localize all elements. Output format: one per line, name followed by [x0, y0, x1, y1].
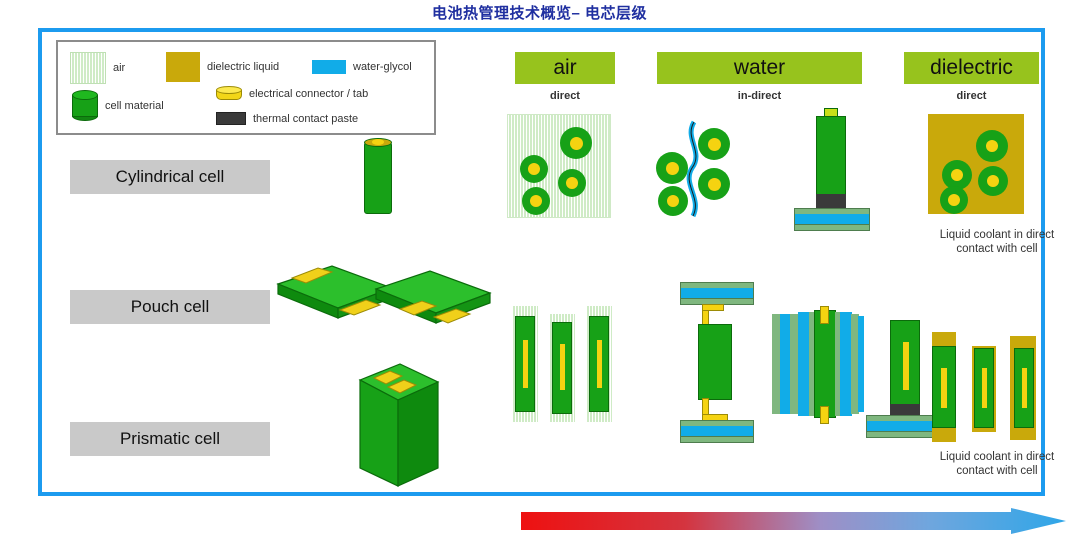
column-header-dielectric-label: dielectric — [930, 56, 1013, 80]
dielectric-cylindrical-diagram — [928, 114, 1024, 214]
legend-label-electrical-connector: electrical connector / tab — [249, 88, 368, 100]
diagram-frame: air dielectric liquid water-glycol cell … — [38, 28, 1045, 496]
note-dielectric-prismatic: Liquid coolant in direct contact with ce… — [902, 450, 1079, 478]
legend-item-cell-material: cell material — [72, 90, 164, 121]
cell-ring — [976, 130, 1008, 162]
legend-item-dielectric-liquid: dielectric liquid — [166, 52, 279, 82]
legend-label-thermal-paste: thermal contact paste — [253, 113, 358, 125]
legend-label-water-glycol: water-glycol — [353, 61, 412, 73]
note-dielectric-cylindrical: Liquid coolant in direct contact with ce… — [902, 228, 1079, 256]
pouch-cell-illustration — [274, 262, 534, 352]
cell-ring — [978, 166, 1008, 196]
column-header-water-label: water — [734, 56, 785, 80]
note-dielectric-cylindrical-line1: Liquid coolant in direct — [902, 228, 1079, 242]
cylindrical-cell-illustration — [362, 136, 394, 216]
dielectric-swatch-icon — [166, 52, 200, 82]
cylinder-swatch-icon — [72, 90, 98, 121]
air-cylindrical-diagram — [507, 114, 611, 218]
column-sub-dielectric: direct — [904, 90, 1039, 102]
column-header-water: water — [657, 52, 862, 84]
water-glycol-swatch-icon — [312, 60, 346, 74]
cell-ring — [558, 169, 586, 197]
legend-item-water-glycol: water-glycol — [312, 60, 412, 74]
column-sub-water: in-direct — [657, 90, 862, 102]
page-title: 电池热管理技术概览– 电芯层级 — [0, 2, 1079, 23]
water-pouch-topbottom-plates-diagram — [676, 282, 762, 444]
legend-item-thermal-paste: thermal contact paste — [216, 112, 358, 125]
legend-item-air: air — [70, 52, 125, 84]
row-label-prismatic: Prismatic cell — [70, 422, 270, 456]
cell-ring — [560, 127, 592, 159]
cell-ring — [940, 186, 968, 214]
note-dielectric-prismatic-line2: contact with cell — [902, 464, 1079, 478]
temperature-gradient-arrow — [521, 508, 1066, 534]
column-header-dielectric: dielectric — [904, 52, 1039, 84]
legend-item-electrical-connector: electrical connector / tab — [216, 86, 368, 102]
note-dielectric-cylindrical-line2: contact with cell — [902, 242, 1079, 256]
row-label-pouch-text: Pouch cell — [131, 297, 209, 317]
row-label-prismatic-text: Prismatic cell — [120, 429, 220, 449]
row-label-pouch: Pouch cell — [70, 290, 270, 324]
coolant-tube-icon — [680, 120, 720, 220]
prismatic-cell-illustration — [352, 360, 482, 490]
water-cylindrical-rings-diagram — [652, 120, 762, 220]
column-header-air-label: air — [553, 56, 576, 80]
note-dielectric-prismatic-line1: Liquid coolant in direct — [902, 450, 1079, 464]
row-label-cylindrical-text: Cylindrical cell — [116, 167, 225, 187]
water-pouch-side-plates-diagram — [772, 306, 864, 422]
legend-box: air dielectric liquid water-glycol cell … — [56, 40, 436, 135]
row-label-cylindrical: Cylindrical cell — [70, 160, 270, 194]
legend-label-cell-material: cell material — [105, 100, 164, 112]
legend-label-air: air — [113, 62, 125, 74]
legend-label-dielectric-liquid: dielectric liquid — [207, 61, 279, 73]
paste-swatch-icon — [216, 112, 246, 125]
tab-swatch-icon — [216, 86, 242, 102]
water-cylindrical-coldplate-diagram — [790, 108, 876, 230]
dielectric-prismatic-diagram — [926, 332, 1042, 446]
air-pouch-diagram — [508, 300, 618, 428]
cell-ring — [522, 187, 550, 215]
air-hatch-swatch-icon — [70, 52, 106, 84]
cell-ring — [520, 155, 548, 183]
column-header-air: air — [515, 52, 615, 84]
column-sub-air: direct — [515, 90, 615, 102]
